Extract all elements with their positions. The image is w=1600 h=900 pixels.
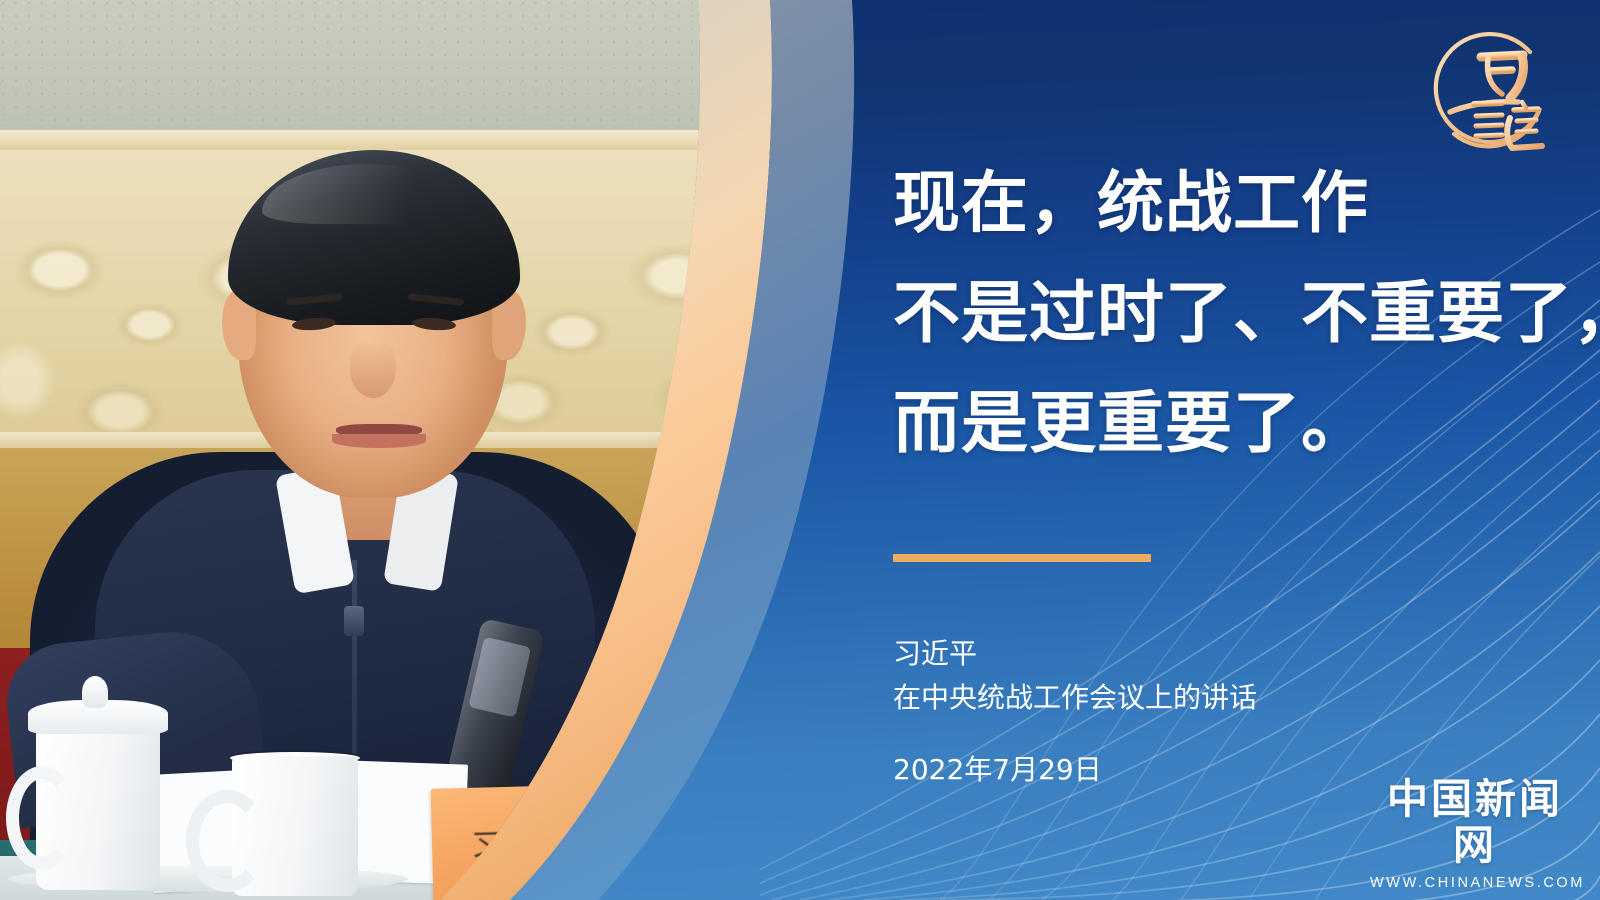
attribution-speaker: 习近平 [893,632,1257,676]
attribution-date: 2022年7月29日 [893,748,1257,792]
chinanews-name: 中国新闻网 [1370,776,1580,868]
quote-line-2: 不是过时了、不重要了， [893,258,1553,368]
poster-canvas: 习近平 [0,0,1600,900]
quote-line-1: 现在，统战工作 [893,148,1553,258]
gold-divider-rule [893,554,1151,562]
attribution-block: 习近平 在中央统战工作会议上的讲话 2022年7月29日 [893,632,1257,792]
chinanews-url: WWW.CHINANEWS.COM [1370,875,1580,891]
quote-text: 现在，统战工作 不是过时了、不重要了， 而是更重要了。 [893,148,1553,478]
quote-line-3: 而是更重要了。 [893,368,1553,478]
chinanews-logo: 中国新闻网 WWW.CHINANEWS.COM [1370,776,1580,891]
attribution-occasion: 在中央统战工作会议上的讲话 [893,676,1257,720]
